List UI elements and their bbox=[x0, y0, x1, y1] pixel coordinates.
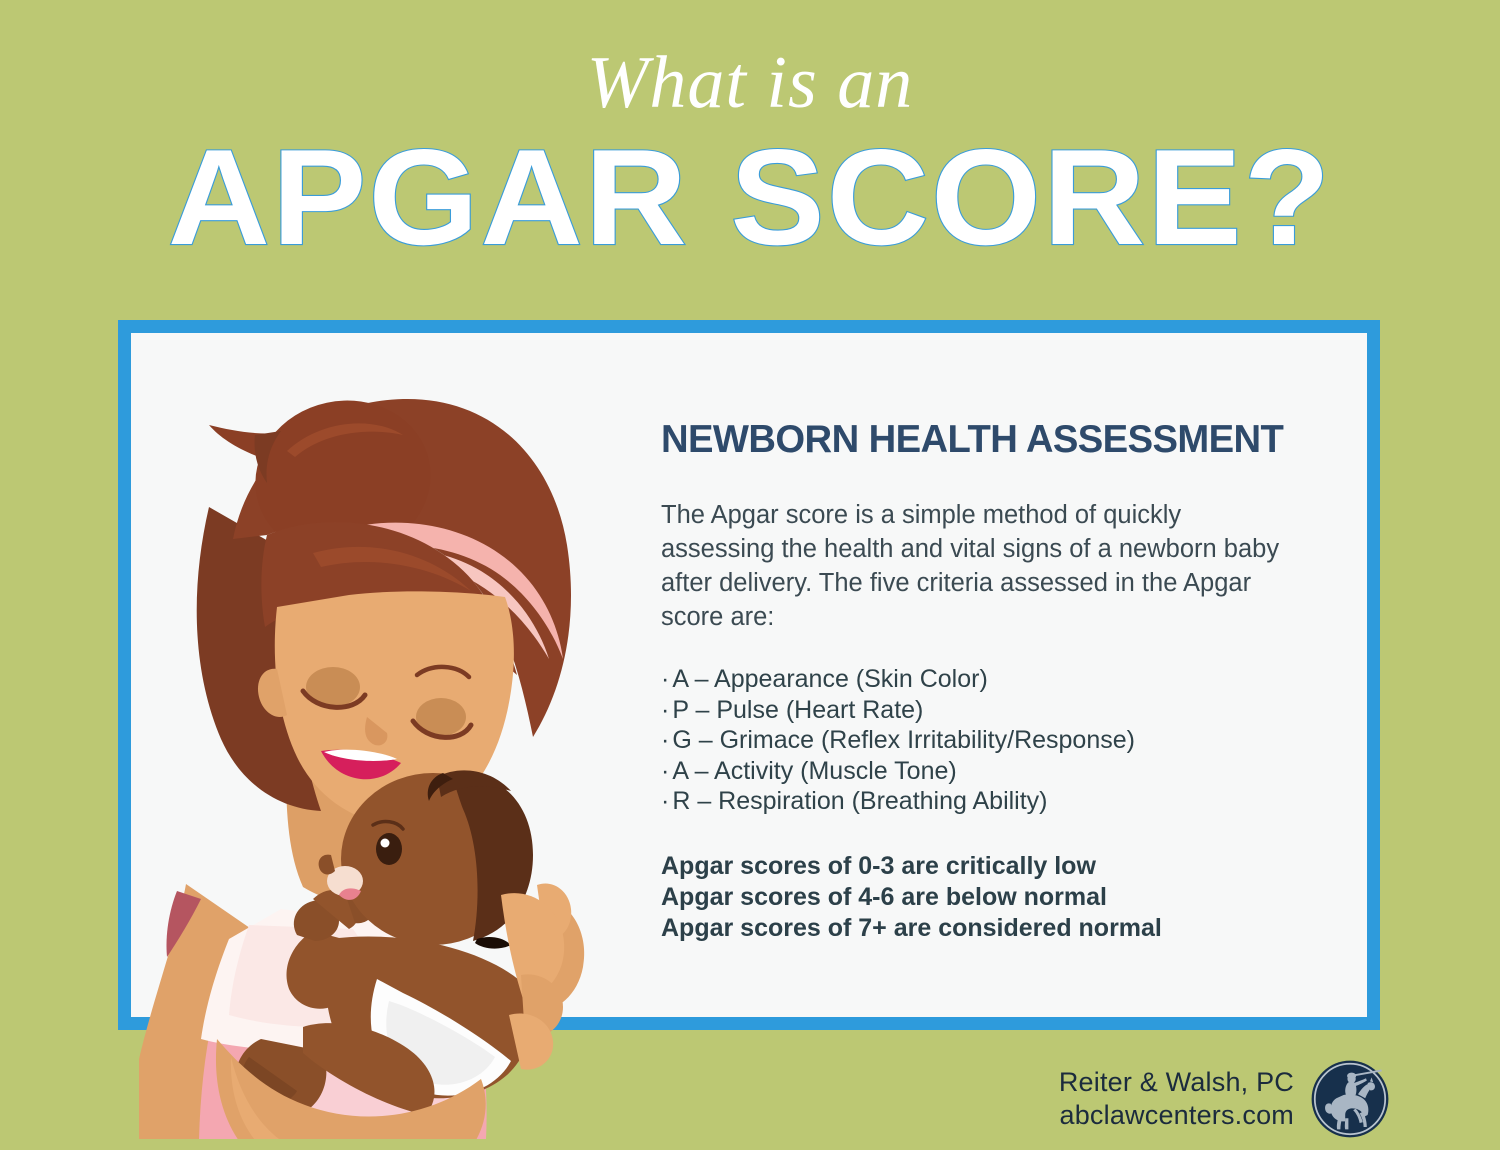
list-item: ·P – Pulse (Heart Rate) bbox=[661, 695, 1281, 726]
bullet-icon: · bbox=[661, 787, 669, 815]
firm-name: Reiter & Walsh, PC bbox=[1059, 1066, 1294, 1099]
criteria-label: G – Grimace (Reflex Irritability/Respons… bbox=[672, 726, 1135, 754]
list-item: ·A – Activity (Muscle Tone) bbox=[661, 756, 1281, 787]
page-title: APGAR SCORE? bbox=[0, 128, 1500, 267]
footer: Reiter & Walsh, PC abclawcenters.com bbox=[1010, 1053, 1390, 1145]
section-heading: NEWBORN HEALTH ASSESSMENT bbox=[661, 418, 1269, 462]
footer-text: Reiter & Walsh, PC abclawcenters.com bbox=[1059, 1066, 1294, 1132]
content-card: NEWBORN HEALTH ASSESSMENT The Apgar scor… bbox=[131, 333, 1367, 1017]
criteria-list: ·A – Appearance (Skin Color) ·P – Pulse … bbox=[661, 664, 1281, 817]
criteria-label: P – Pulse (Heart Rate) bbox=[672, 696, 923, 724]
criteria-label: R – Respiration (Breathing Ability) bbox=[672, 787, 1047, 815]
bullet-icon: · bbox=[661, 726, 669, 754]
list-item: ·G – Grimace (Reflex Irritability/Respon… bbox=[661, 725, 1281, 756]
text-column: NEWBORN HEALTH ASSESSMENT The Apgar scor… bbox=[661, 418, 1281, 944]
knight-on-horseback-logo bbox=[1310, 1059, 1390, 1139]
bullet-icon: · bbox=[661, 696, 669, 724]
mother-holding-newborn-illustration bbox=[81, 339, 641, 1139]
bullet-icon: · bbox=[661, 665, 669, 693]
score-range-line: Apgar scores of 7+ are considered normal bbox=[661, 913, 1281, 944]
website-url[interactable]: abclawcenters.com bbox=[1059, 1099, 1294, 1132]
list-item: ·R – Respiration (Breathing Ability) bbox=[661, 786, 1281, 817]
title-script-line: What is an bbox=[0, 0, 1500, 120]
apgar-score-infographic: What is an APGAR SCORE? bbox=[0, 0, 1500, 1150]
title-block: What is an APGAR SCORE? bbox=[0, 0, 1500, 267]
list-item: ·A – Appearance (Skin Color) bbox=[661, 664, 1281, 695]
score-ranges: Apgar scores of 0-3 are critically low A… bbox=[661, 851, 1281, 944]
criteria-label: A – Appearance (Skin Color) bbox=[672, 665, 987, 693]
score-range-line: Apgar scores of 0-3 are critically low bbox=[661, 851, 1281, 882]
intro-paragraph: The Apgar score is a simple method of qu… bbox=[661, 498, 1281, 634]
content-card-frame: NEWBORN HEALTH ASSESSMENT The Apgar scor… bbox=[118, 320, 1380, 1030]
bullet-icon: · bbox=[661, 757, 669, 785]
score-range-line: Apgar scores of 4-6 are below normal bbox=[661, 882, 1281, 913]
criteria-label: A – Activity (Muscle Tone) bbox=[672, 757, 956, 785]
